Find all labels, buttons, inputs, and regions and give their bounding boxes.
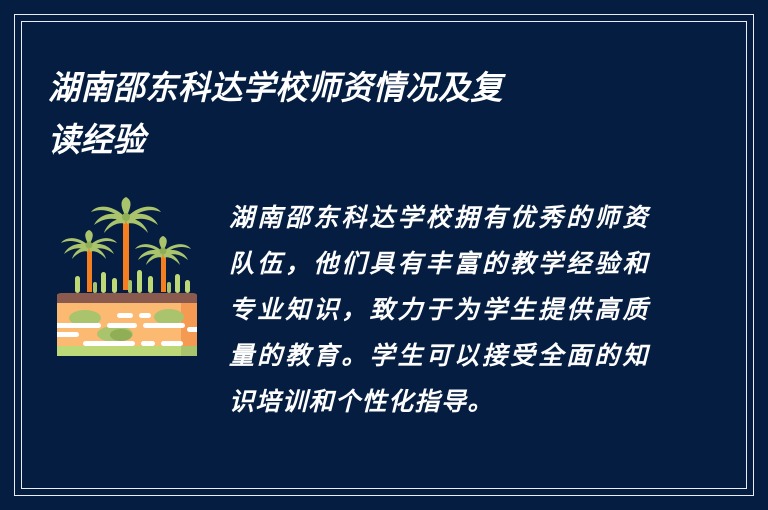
grass-sprouts: [75, 270, 190, 293]
cliff-block: [57, 293, 197, 356]
body-paragraph: 湖南邵东科达学校拥有优秀的师资队伍，他们具有丰富的教学经验和专业知识，致力于为学…: [229, 196, 649, 426]
palm-tree-right: [135, 236, 191, 292]
article-card: 湖南邵东科达学校师资情况及复 读经验: [0, 0, 768, 510]
content-row: 湖南邵东科达学校拥有优秀的师资队伍，他们具有丰富的教学经验和专业知识，致力于为学…: [0, 196, 768, 426]
palm-trees-cliff-icon: [57, 196, 197, 356]
page-title-line-2: 读经验: [48, 114, 630, 166]
palm-trees-cliff-svg: [57, 196, 197, 356]
page-title: 湖南邵东科达学校师资情况及复 读经验: [48, 62, 648, 166]
palm-tree-left: [61, 230, 117, 292]
page-title-line-1: 湖南邵东科达学校师资情况及复: [48, 62, 630, 114]
